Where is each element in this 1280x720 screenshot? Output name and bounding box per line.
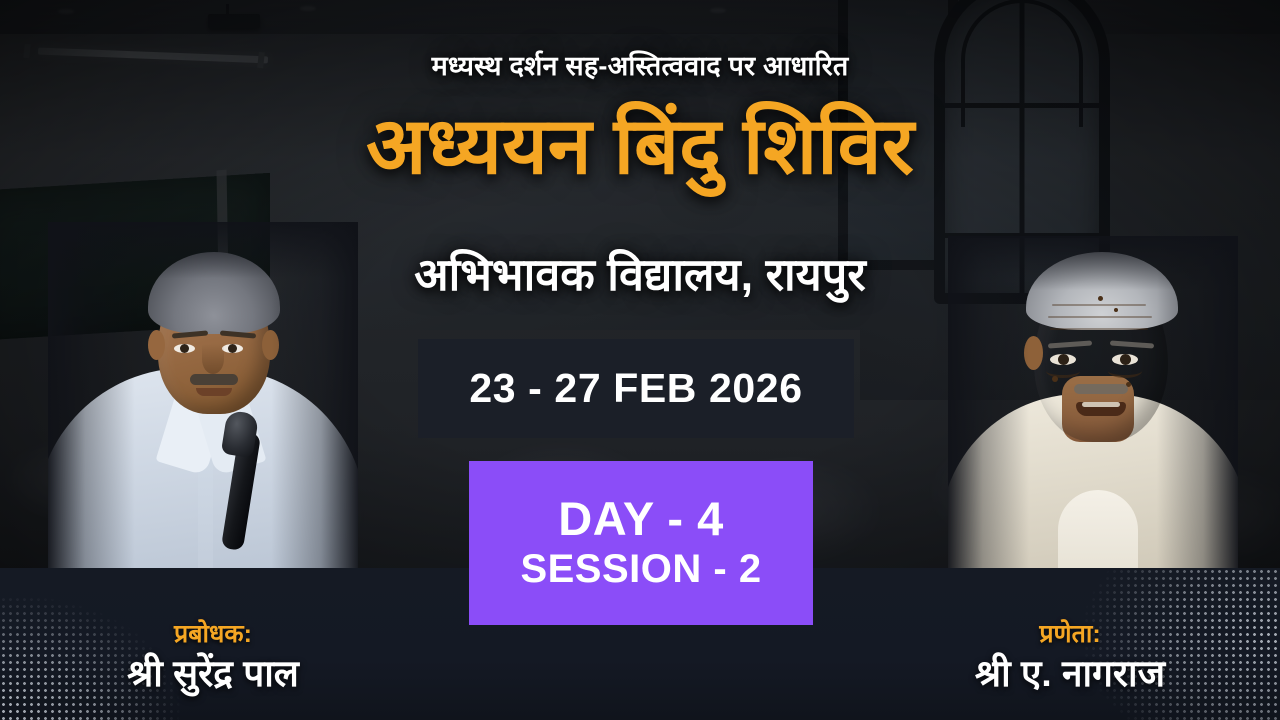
- credit-left-role: प्रबोधक:: [48, 619, 378, 650]
- mouth: [196, 388, 232, 396]
- session-label: SESSION - 2: [520, 546, 761, 593]
- event-poster: मध्यस्थ दर्शन सह-अस्तित्ववाद पर आधारित अ…: [0, 0, 1280, 720]
- ear: [262, 330, 279, 360]
- shirt-placket: [198, 456, 213, 574]
- forehead-line: [1048, 316, 1152, 318]
- forehead-line: [1052, 304, 1146, 306]
- date-range-text: 23 - 27 FEB 2026: [469, 365, 802, 412]
- eye-bag: [1108, 364, 1142, 378]
- credit-left-name: श्री सुरेंद्र पाल: [48, 650, 378, 698]
- mole: [1114, 308, 1118, 312]
- eye: [222, 344, 243, 353]
- poster-venue: अभिभावक विद्यालय, रायपुर: [0, 243, 1280, 304]
- credit-right: प्रणेता: श्री ए. नागराज: [900, 619, 1240, 698]
- poster-kicker: मध्यस्थ दर्शन सह-अस्तित्ववाद पर आधारित: [0, 46, 1280, 83]
- credit-right-role: प्रणेता:: [900, 619, 1240, 650]
- poster-title: अध्ययन बिंदु शिविर: [0, 103, 1280, 188]
- ear: [148, 330, 165, 360]
- nose: [202, 344, 224, 374]
- kurta-neckline: [1058, 490, 1138, 574]
- session-badge: DAY - 4 SESSION - 2: [469, 461, 813, 625]
- eye-bag: [1046, 364, 1080, 378]
- date-badge: 23 - 27 FEB 2026: [418, 339, 854, 438]
- credit-right-name: श्री ए. नागराज: [900, 650, 1240, 698]
- day-label: DAY - 4: [558, 493, 723, 546]
- eye: [174, 344, 195, 353]
- moustache: [1074, 384, 1128, 394]
- forehead-line: [1050, 328, 1148, 330]
- ear: [1024, 336, 1043, 370]
- credit-left: प्रबोधक: श्री सुरेंद्र पाल: [48, 619, 378, 698]
- mole: [1052, 376, 1058, 382]
- teeth: [1082, 402, 1120, 407]
- moustache: [190, 374, 238, 385]
